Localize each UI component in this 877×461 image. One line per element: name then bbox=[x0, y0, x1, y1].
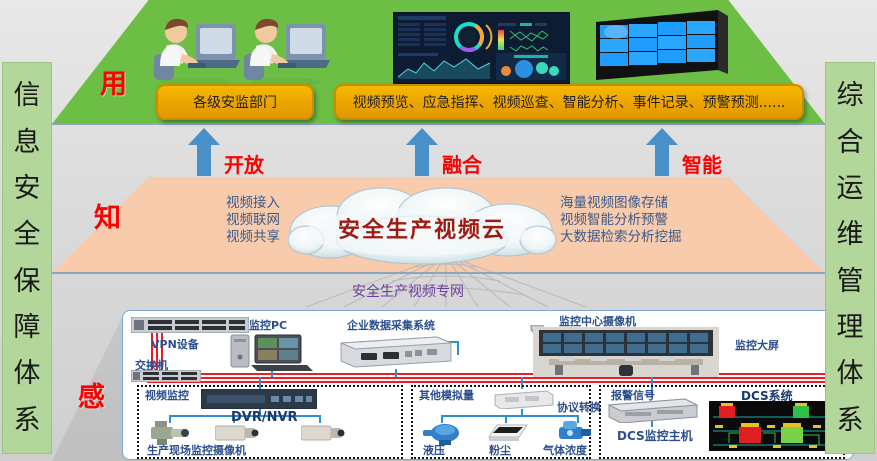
label-protocol-convert: 协议转换 bbox=[557, 399, 601, 415]
label-big-screen: 监控大屏 bbox=[735, 337, 779, 353]
side-left-char-3: 全 bbox=[14, 221, 41, 248]
cloud-left-item-2: 视频共享 bbox=[120, 229, 280, 246]
cloud-left-item-0: 视频接入 bbox=[120, 195, 280, 212]
layer-tag-use: 用 bbox=[100, 62, 127, 101]
dcs-hmi-screen-image bbox=[709, 401, 833, 456]
video-wall-display-icon bbox=[590, 8, 732, 83]
label-alarm-signal: 报警信号 bbox=[611, 387, 655, 403]
cloud-left-item-1: 视频联网 bbox=[120, 212, 280, 229]
side-right-char-4: 管 bbox=[837, 268, 864, 295]
monitor-pc-icon bbox=[229, 331, 315, 378]
button-safety-departments[interactable]: 各级安监部门 bbox=[156, 84, 314, 120]
cloud-title-label: 安全生产视频云 bbox=[286, 212, 558, 244]
side-right-char-6: 体 bbox=[837, 360, 864, 387]
side-right-char-7: 系 bbox=[837, 407, 864, 434]
arrow-up-icon-intelligent bbox=[646, 128, 678, 176]
label-dust: 粉尘 bbox=[489, 442, 511, 458]
label-gas-concentration: 气体浓度 bbox=[543, 442, 587, 458]
side-left-char-7: 系 bbox=[14, 407, 41, 434]
protocol-converter-icon bbox=[493, 389, 555, 414]
analytics-dashboard-image bbox=[393, 12, 570, 84]
side-right-char-2: 运 bbox=[837, 175, 864, 202]
cloud-right-item-2: 大数据检索分析挖掘 bbox=[560, 229, 790, 246]
label-switch: 交换机 bbox=[135, 357, 168, 373]
label-data-collection: 企业数据采集系统 bbox=[347, 317, 435, 333]
operator-at-computer-icon-2 bbox=[242, 6, 330, 86]
label-monitor-pc: 监控PC bbox=[249, 317, 287, 333]
label-dcs-host: DCS监控主机 bbox=[617, 427, 693, 444]
arrow-label-open: 开放 bbox=[224, 149, 264, 178]
arrow-up-icon-converge bbox=[406, 128, 438, 176]
arrow-label-intelligent: 智能 bbox=[682, 149, 722, 178]
layer-tag-know: 知 bbox=[94, 196, 121, 235]
label-video-surveillance: 视频监控 bbox=[145, 387, 189, 403]
control-room-big-screen-image bbox=[533, 327, 719, 382]
side-panel-operations-management: 综 合 运 维 管 理 体 系 bbox=[825, 62, 875, 454]
side-right-char-0: 综 bbox=[837, 82, 864, 109]
cloud-right-item-0: 海量视频图像存储 bbox=[560, 195, 790, 212]
box-camera-icon-2 bbox=[301, 423, 345, 448]
arrow-label-converge: 融合 bbox=[442, 149, 482, 178]
data-collection-server-icon bbox=[337, 331, 453, 376]
button-application-functions[interactable]: 视频预览、应急指挥、视频巡查、智能分析、事件记录、预警预测...... bbox=[334, 84, 804, 120]
side-right-char-3: 维 bbox=[837, 221, 864, 248]
layer-tag-sense: 感 bbox=[78, 375, 105, 414]
wire-center-link bbox=[457, 341, 459, 355]
side-left-char-4: 保 bbox=[14, 268, 41, 295]
private-network-label: 安全生产视频专网 bbox=[352, 281, 464, 301]
layer-divider-use bbox=[52, 123, 825, 125]
label-site-camera: 生产现场监控摄像机 bbox=[147, 442, 246, 458]
label-hydraulic: 液压 bbox=[423, 442, 445, 458]
label-center-camera: 监控中心摄像机 bbox=[559, 313, 636, 329]
label-dcs-system: DCS系统 bbox=[741, 387, 793, 404]
side-left-char-5: 障 bbox=[14, 314, 41, 341]
side-left-char-0: 信 bbox=[14, 82, 41, 109]
arrow-up-icon-open bbox=[188, 128, 220, 176]
red-bus-line-3 bbox=[147, 381, 837, 383]
layer-divider-know bbox=[52, 272, 825, 274]
side-panel-information-security: 信 息 安 全 保 障 体 系 bbox=[2, 62, 52, 454]
side-right-char-5: 理 bbox=[837, 314, 864, 341]
side-left-char-2: 安 bbox=[14, 175, 41, 202]
label-vpn-device: VPN设备 bbox=[151, 336, 199, 352]
side-left-char-6: 体 bbox=[14, 360, 41, 387]
label-other-analog: 其他模拟量 bbox=[419, 387, 474, 403]
cloud-right-item-1: 视频智能分析预警 bbox=[560, 212, 790, 229]
cloud-capabilities-left: 视频接入 视频联网 视频共享 bbox=[120, 195, 280, 246]
side-left-char-1: 息 bbox=[14, 129, 41, 156]
cloud-capabilities-right: 海量视频图像存储 视频智能分析预警 大数据检索分析挖掘 bbox=[560, 195, 790, 246]
label-dvr-nvr: DVR/NVR bbox=[231, 410, 298, 425]
architecture-diagram: 用 知 感 信 息 安 全 保 障 体 系 综 合 运 维 管 理 体 系 bbox=[0, 0, 877, 461]
infrastructure-panel: VPN设备 交换机 监控PC bbox=[122, 310, 854, 460]
operator-at-computer-icon bbox=[152, 6, 240, 86]
side-right-char-1: 合 bbox=[837, 129, 864, 156]
